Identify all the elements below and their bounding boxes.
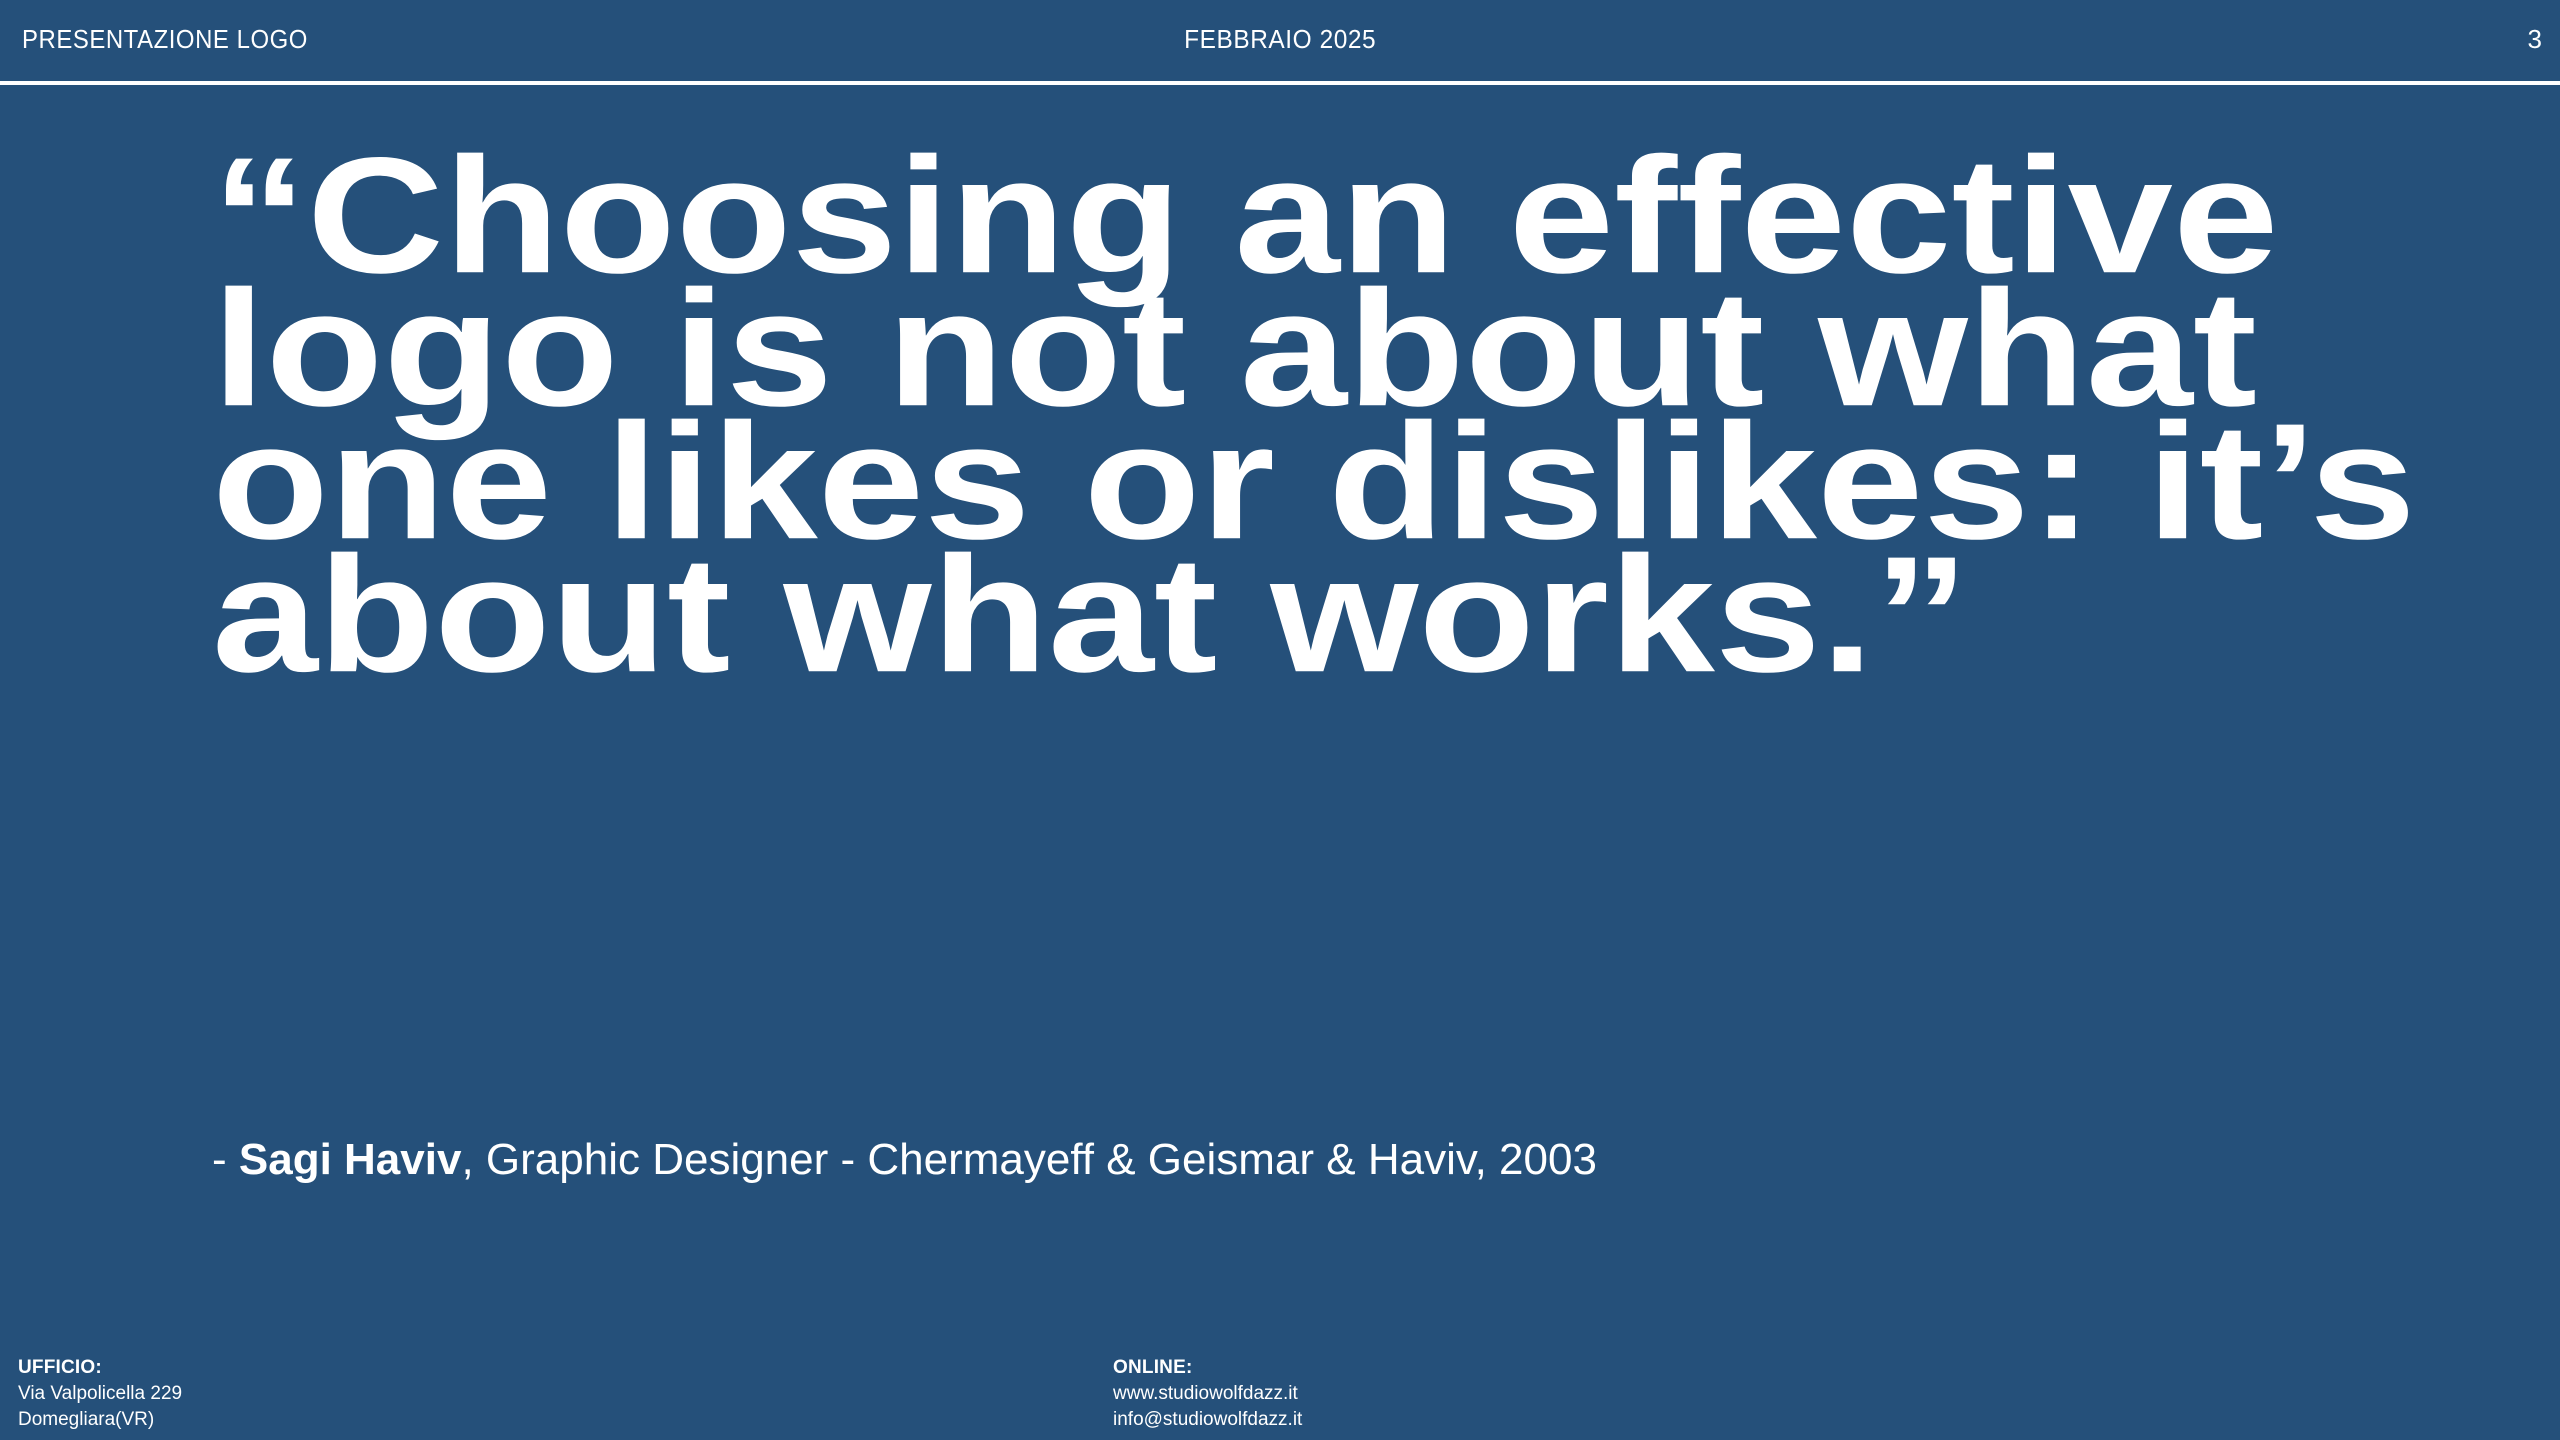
slide-header: PRESENTAZIONE LOGO FEBBRAIO 2025 3 [0,0,2560,81]
header-date-label: FEBBRAIO 2025 [1184,24,1376,55]
footer-office-title: UFFICIO: [18,1355,182,1381]
footer-office-city: Domegliara(VR) [18,1407,182,1433]
footer-online-title: ONLINE: [1113,1355,1302,1381]
attribution-dash: - [212,1135,239,1184]
footer-office-block: UFFICIO: Via Valpolicella 229 Domegliara… [18,1355,182,1433]
quote-attribution: - Sagi Haviv, Graphic Designer - Chermay… [212,1134,1597,1186]
footer-email-link[interactable]: info@studiowolfdazz.it [1113,1407,1302,1433]
footer-website-link[interactable]: www.studiowolfdazz.it [1113,1381,1302,1407]
footer-online-block: ONLINE: www.studiowolfdazz.it info@studi… [1113,1355,1302,1433]
slide-page-number: 3 [2528,24,2542,55]
quote-line-4: about what works.” [212,531,1969,696]
quote-line-row: about what works.” [212,547,2392,680]
attribution-details: , Graphic Designer - Chermayeff & Geisma… [461,1135,1596,1184]
header-date: FEBBRAIO 2025 [0,24,2560,55]
presentation-slide: PRESENTAZIONE LOGO FEBBRAIO 2025 3 “Choo… [0,0,2560,1440]
quote-text-block: “Choosing an effective logo is not about… [212,148,2392,680]
attribution-author: Sagi Haviv [239,1135,462,1184]
quote-lines: “Choosing an effective logo is not about… [212,148,2392,680]
footer-office-street: Via Valpolicella 229 [18,1381,182,1407]
header-divider-line [0,81,2560,85]
